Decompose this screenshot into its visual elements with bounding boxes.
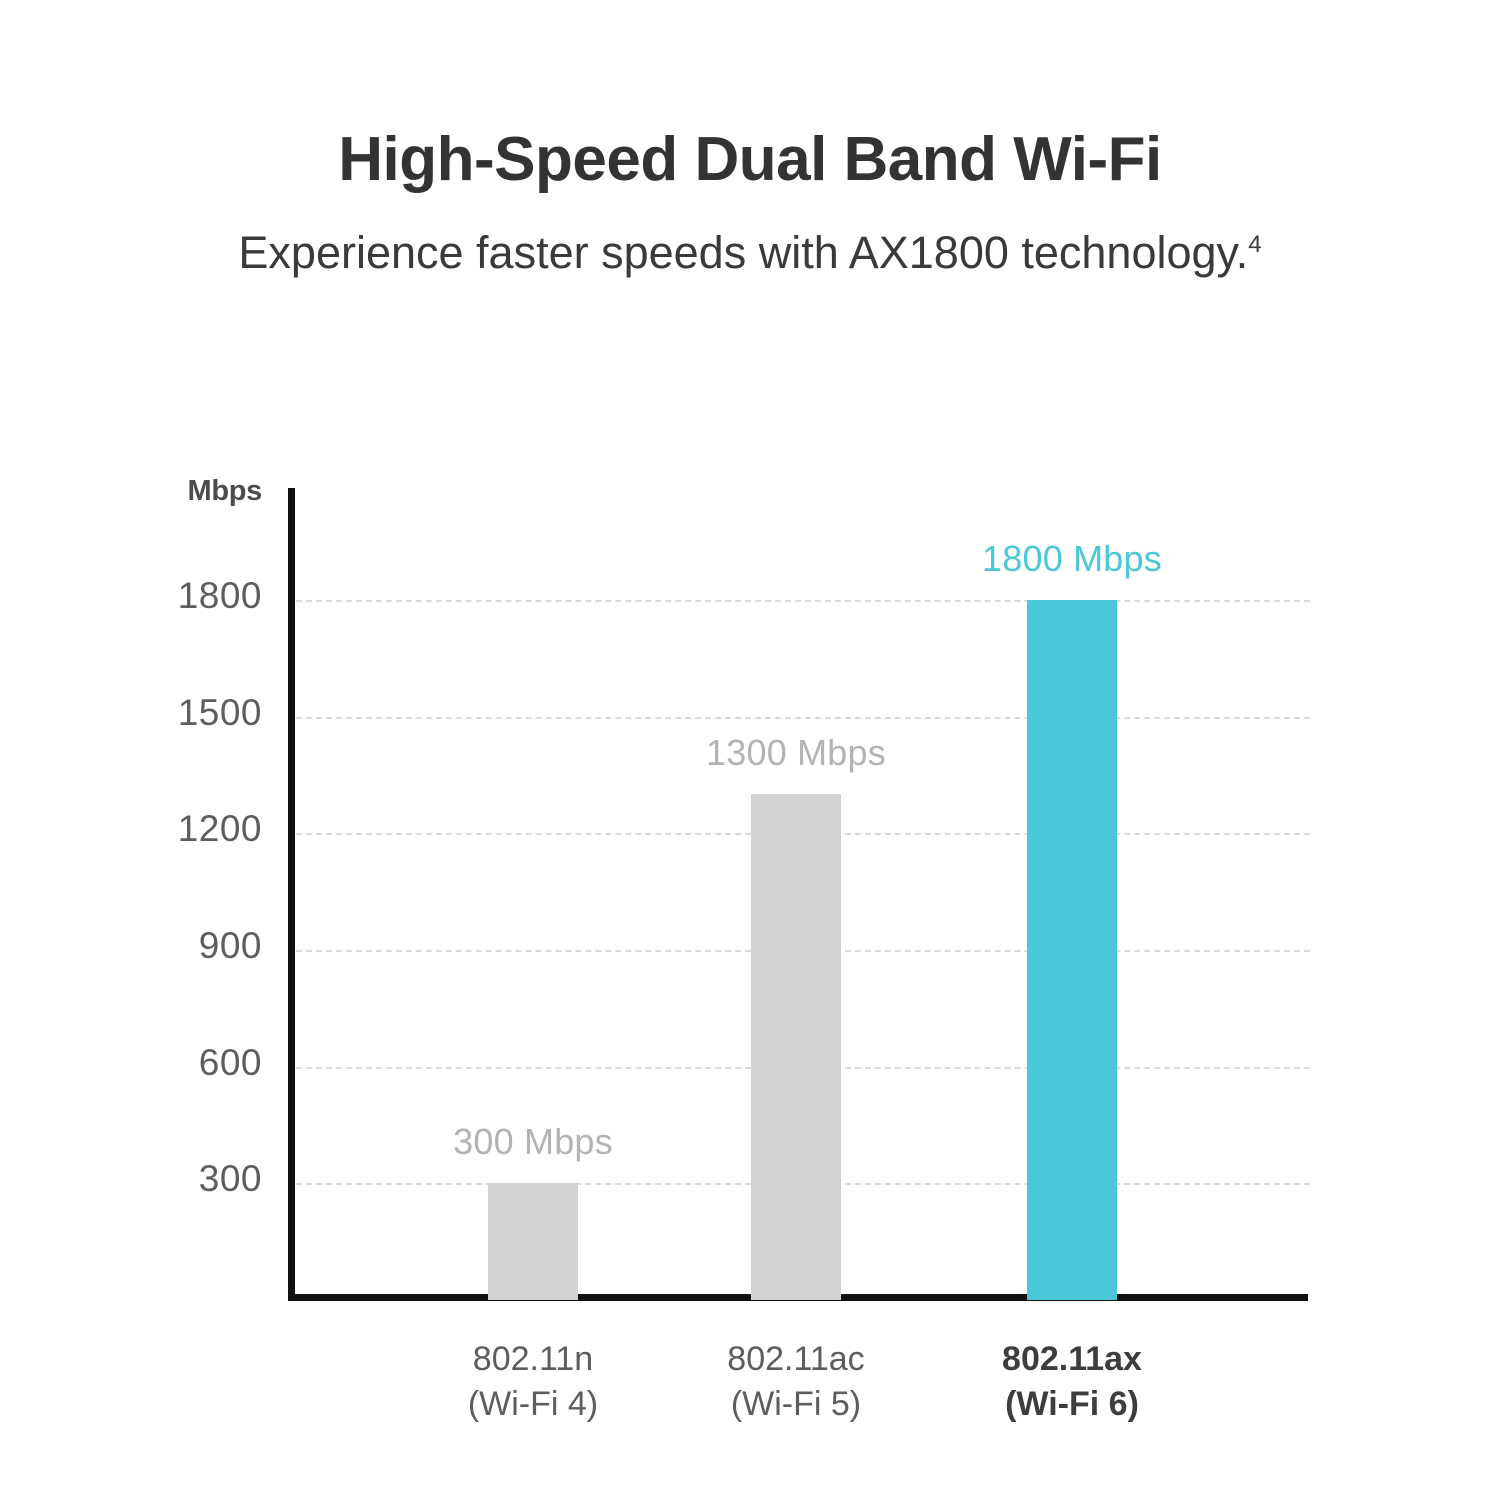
y-tick-label: 300 [100, 1158, 262, 1200]
category-label-primary: 802.11n [473, 1340, 593, 1378]
category-label-secondary: (Wi-Fi 6) [892, 1382, 1252, 1427]
category-label-primary: 802.11ac [727, 1340, 864, 1378]
y-tick-label: 600 [100, 1042, 262, 1084]
bar[interactable] [1027, 600, 1117, 1300]
bar-value-label: 300 Mbps [353, 1121, 713, 1163]
bar-chart: Mbps 300600900120015001800 300 Mbps1300 … [0, 0, 1500, 1500]
y-axis-unit-label: Mbps [150, 475, 262, 508]
bar[interactable] [751, 794, 841, 1300]
y-tick-label: 900 [100, 925, 262, 967]
bar-value-label: 1800 Mbps [892, 538, 1252, 580]
category-label-primary: 802.11ax [1002, 1340, 1142, 1378]
gridline [296, 600, 1310, 602]
bar-value-label: 1300 Mbps [616, 732, 976, 774]
y-tick-label: 1800 [100, 575, 262, 617]
category-label: 802.11ax(Wi-Fi 6) [892, 1337, 1252, 1427]
gridline [296, 717, 1310, 719]
y-axis-line [288, 488, 295, 1300]
y-tick-label: 1200 [100, 808, 262, 850]
y-tick-label: 1500 [100, 692, 262, 734]
bar[interactable] [488, 1183, 578, 1300]
